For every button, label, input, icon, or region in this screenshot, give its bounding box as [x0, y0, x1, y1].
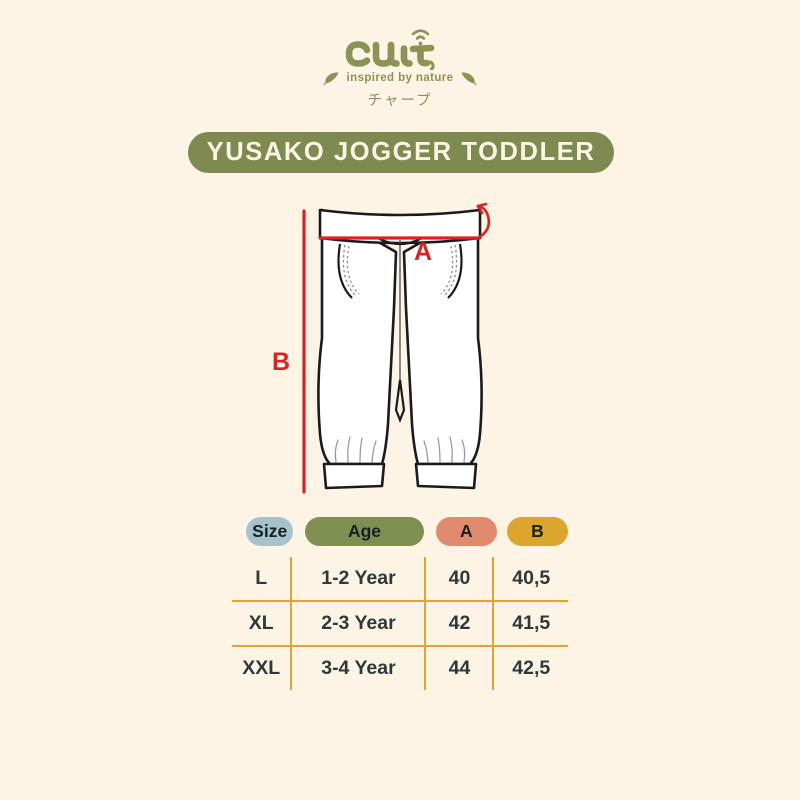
brand-logo-block: inspired by nature チャープ [0, 22, 800, 110]
column-header-a: A [436, 517, 497, 546]
brand-japanese-name: チャープ [0, 89, 800, 110]
cell-size: L [232, 557, 290, 600]
measure-a-label: A [414, 238, 432, 266]
cell-a: 42 [424, 602, 492, 645]
column-header-age: Age [305, 517, 423, 546]
cuit-wordmark [334, 22, 466, 70]
table-row: L 1-2 Year 40 40,5 [232, 557, 568, 600]
cell-a: 44 [424, 647, 492, 690]
cell-age: 1-2 Year [290, 557, 424, 600]
cell-a: 40 [424, 557, 492, 600]
jogger-pants-illustration: A B [0, 188, 800, 508]
leaf-icon [323, 71, 340, 85]
measure-b-label: B [272, 348, 290, 376]
pants-cuffs [324, 464, 476, 488]
table-row: XL 2-3 Year 42 41,5 [232, 600, 568, 645]
brand-tagline: inspired by nature [347, 72, 454, 84]
cell-b: 42,5 [492, 647, 568, 690]
signal-arc-icon [413, 31, 428, 46]
cell-size: XL [232, 602, 290, 645]
cell-size: XXL [232, 647, 290, 690]
size-chart-table: Size Age A B L 1-2 Year 40 40,5 XL 2-3 Y… [232, 514, 568, 690]
brand-tagline-row: inspired by nature [0, 71, 800, 85]
column-header-size: Size [246, 517, 293, 546]
table-row: XXL 3-4 Year 44 42,5 [232, 645, 568, 690]
column-header-b: B [507, 517, 568, 546]
page-title-banner: YUSAKO JOGGER TODDLER [188, 132, 614, 173]
cell-b: 40,5 [492, 557, 568, 600]
cell-age: 3-4 Year [290, 647, 424, 690]
measure-b-indicator: B [272, 211, 304, 492]
cell-b: 41,5 [492, 602, 568, 645]
cell-age: 2-3 Year [290, 602, 424, 645]
table-body: L 1-2 Year 40 40,5 XL 2-3 Year 42 41,5 X… [232, 557, 568, 690]
table-header-row: Size Age A B [232, 514, 568, 548]
page-title: YUSAKO JOGGER TODDLER [207, 138, 596, 167]
drawstring-tip [396, 380, 404, 420]
leaf-icon [460, 71, 477, 85]
